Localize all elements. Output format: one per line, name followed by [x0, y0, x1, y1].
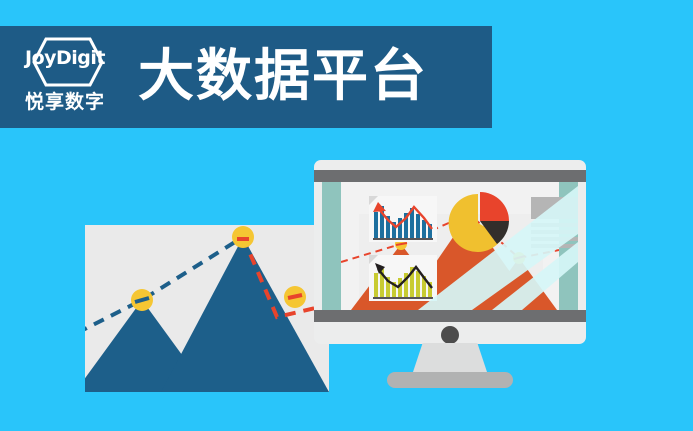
blue-bar-chart-svg: [369, 196, 437, 242]
mountain-chart-svg: [85, 225, 329, 392]
monitor-stand-base: [387, 372, 513, 388]
text-block-line: [531, 237, 578, 241]
brand-logo: JoyDigit 悦享数字: [6, 31, 124, 123]
card-fold-corner: [369, 255, 378, 264]
mountain-chart-panel: [85, 225, 329, 392]
page-title: 大数据平台: [138, 49, 428, 105]
infographic-banner: JoyDigit 悦享数字 大数据平台: [0, 0, 693, 431]
text-block-line: [531, 223, 578, 227]
text-block-line: [531, 230, 578, 234]
blue-bar-chart-card: [369, 196, 437, 242]
mountain-shape-center: [161, 237, 329, 392]
screen-content: [341, 182, 559, 310]
header-banner: JoyDigit 悦享数字 大数据平台: [0, 26, 492, 128]
monitor-screen: [322, 182, 578, 310]
yellow-bar-chart-card: [369, 255, 437, 301]
monitor-bezel-bottom: [314, 310, 586, 322]
card-fold-corner: [369, 196, 378, 205]
text-block-header: [531, 197, 578, 219]
monitor: [314, 160, 586, 344]
text-block-widget: [531, 197, 578, 251]
monitor-bezel-top: [314, 170, 586, 182]
pie-chart: [447, 192, 509, 254]
screen-side-band-left: [322, 182, 341, 310]
monitor-stand-neck: [412, 343, 488, 375]
text-block-line: [531, 244, 578, 248]
monitor-power-button[interactable]: [441, 326, 459, 344]
pie-slice-red: [480, 192, 509, 221]
yellow-bar-chart-svg: [369, 255, 437, 301]
brand-subtext: 悦享数字: [6, 87, 124, 114]
brand-wordmark: JoyDigit: [6, 47, 124, 69]
